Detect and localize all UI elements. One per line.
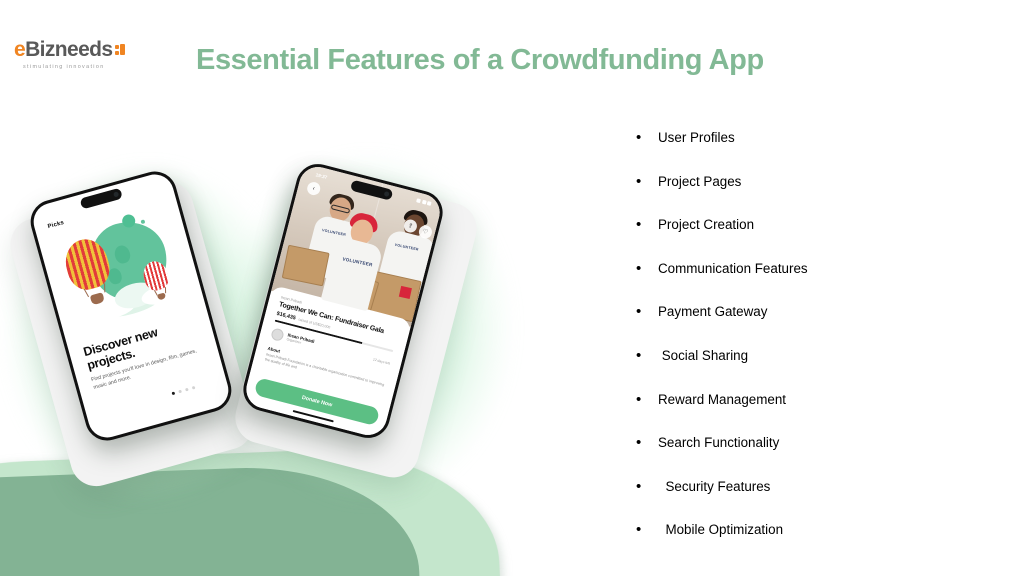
- bullet-icon: •: [636, 128, 658, 148]
- ebizneeds-mark-icon: [115, 43, 125, 56]
- hot-air-balloons-illustration: [51, 203, 195, 332]
- list-item: • Mobile Optimization: [636, 520, 976, 564]
- pagination-dots[interactable]: [172, 386, 196, 395]
- notch: [79, 188, 122, 210]
- feature-label: Reward Management: [658, 390, 786, 410]
- bullet-icon: •: [636, 433, 658, 453]
- bullet-icon: •: [636, 259, 658, 279]
- list-item: • User Profiles: [636, 128, 976, 172]
- list-item: • Project Creation: [636, 215, 976, 259]
- list-item: • Communication Features: [636, 259, 976, 303]
- list-item: • Payment Gateway: [636, 302, 976, 346]
- list-item: • Project Pages: [636, 172, 976, 216]
- logo-text: Bizneeds: [25, 38, 112, 62]
- avatar: [270, 327, 285, 342]
- feature-label: Project Pages: [658, 172, 741, 192]
- bullet-icon: •: [636, 346, 658, 366]
- days-left-badge: 12 days left: [373, 357, 391, 365]
- feature-label: Security Features: [658, 477, 770, 497]
- feature-label: Project Creation: [658, 215, 754, 235]
- feature-label: Payment Gateway: [658, 302, 767, 322]
- list-item: • Social Sharing: [636, 346, 976, 390]
- picks-nav-label: Picks: [47, 220, 65, 230]
- logo-tagline: stimulating innovation: [14, 64, 154, 70]
- bullet-icon: •: [636, 215, 658, 235]
- feature-list: • User Profiles • Project Pages • Projec…: [636, 128, 976, 564]
- list-item: • Search Functionality: [636, 433, 976, 477]
- feature-label: Mobile Optimization: [658, 520, 783, 540]
- feature-label: Social Sharing: [658, 346, 748, 366]
- bullet-icon: •: [636, 302, 658, 322]
- bullet-icon: •: [636, 172, 658, 192]
- brand-logo: e Bizneeds stimulating innovation: [14, 38, 154, 70]
- page-title: Essential Features of a Crowdfunding App: [196, 44, 896, 77]
- bullet-icon: •: [636, 390, 658, 410]
- feature-label: Search Functionality: [658, 433, 779, 453]
- bullet-icon: •: [636, 477, 658, 497]
- bullet-icon: •: [636, 520, 658, 540]
- feature-label: User Profiles: [658, 128, 735, 148]
- logo-letter-e: e: [14, 38, 25, 62]
- feature-label: Communication Features: [658, 259, 808, 279]
- list-item: • Reward Management: [636, 390, 976, 434]
- phone-mockups: Picks: [0, 150, 520, 510]
- logo-wordmark: e Bizneeds: [14, 38, 154, 62]
- list-item: • Security Features: [636, 477, 976, 521]
